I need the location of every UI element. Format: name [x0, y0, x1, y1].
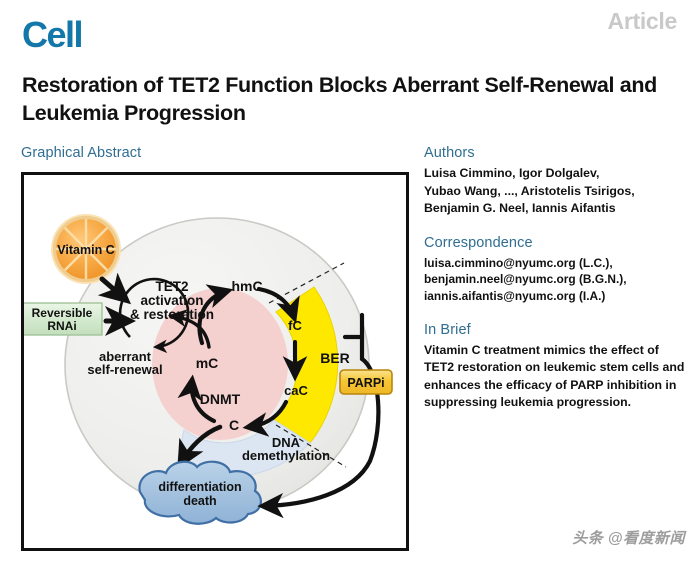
graphical-abstract-heading: Graphical Abstract	[21, 145, 141, 161]
authors-line: Benjamin G. Neel, Iannis Aifantis	[424, 200, 686, 218]
in-brief-heading: In Brief	[424, 322, 686, 338]
label-hmc: hmC	[231, 278, 262, 294]
label-dnmt: DNMT	[200, 391, 241, 407]
label-parpi: PARPi	[347, 376, 384, 390]
in-brief-text: Vitamin C treatment mimics the effect of…	[424, 342, 686, 412]
correspondence-heading: Correspondence	[424, 235, 686, 251]
correspondence-email[interactable]: iannis.aifantis@nyumc.org (I.A.)	[424, 288, 686, 305]
correspondence-block: Correspondence luisa.cimmino@nyumc.org (…	[424, 235, 686, 305]
article-page: Article Cell Restoration of TET2 Functio…	[0, 0, 699, 562]
page-title: Restoration of TET2 Function Blocks Aber…	[22, 72, 682, 127]
label-death: death	[183, 494, 216, 508]
article-side-column: Authors Luisa Cimmino, Igor Dolgalev, Yu…	[424, 145, 686, 412]
label-ber: BER	[320, 350, 350, 366]
in-brief-block: In Brief Vitamin C treatment mimics the …	[424, 322, 686, 412]
label-fc: fC	[288, 318, 302, 333]
correspondence-email[interactable]: luisa.cimmino@nyumc.org (L.C.),	[424, 255, 686, 272]
label-cac: caC	[284, 383, 308, 398]
authors-line: Yubao Wang, ..., Aristotelis Tsirigos,	[424, 183, 686, 201]
label-tet2-1: TET2	[155, 279, 188, 294]
label-c: C	[229, 417, 239, 433]
authors-list: Luisa Cimmino, Igor Dolgalev, Yubao Wang…	[424, 165, 686, 218]
label-reversible-rnai-1: Reversible	[32, 306, 93, 320]
label-dna-demethylation-2: demethylation	[242, 448, 330, 463]
graphical-abstract-figure: Vitamin C Reversible RNAi TET2 activatio…	[21, 172, 409, 551]
cell-journal-logo: Cell	[22, 17, 82, 53]
authors-heading: Authors	[424, 145, 686, 161]
label-tet2-2: activation	[140, 293, 203, 308]
correspondence-list: luisa.cimmino@nyumc.org (L.C.), benjamin…	[424, 255, 686, 305]
authors-line: Luisa Cimmino, Igor Dolgalev,	[424, 165, 686, 183]
article-type-tag: Article	[608, 8, 677, 35]
label-vitamin-c: Vitamin C	[57, 243, 114, 257]
label-reversible-rnai-2: RNAi	[47, 319, 76, 333]
label-aberrant-2: self-renewal	[87, 362, 162, 377]
label-differentiation: differentiation	[158, 480, 241, 494]
label-mc: mC	[196, 355, 219, 371]
label-tet2-3: & restoration	[130, 307, 214, 322]
authors-block: Authors Luisa Cimmino, Igor Dolgalev, Yu…	[424, 145, 686, 218]
tet2-pathway-diagram: Vitamin C Reversible RNAi TET2 activatio…	[24, 175, 406, 548]
correspondence-email[interactable]: benjamin.neel@nyumc.org (B.G.N.),	[424, 271, 686, 288]
watermark: 头条 @看度新闻	[572, 527, 685, 548]
